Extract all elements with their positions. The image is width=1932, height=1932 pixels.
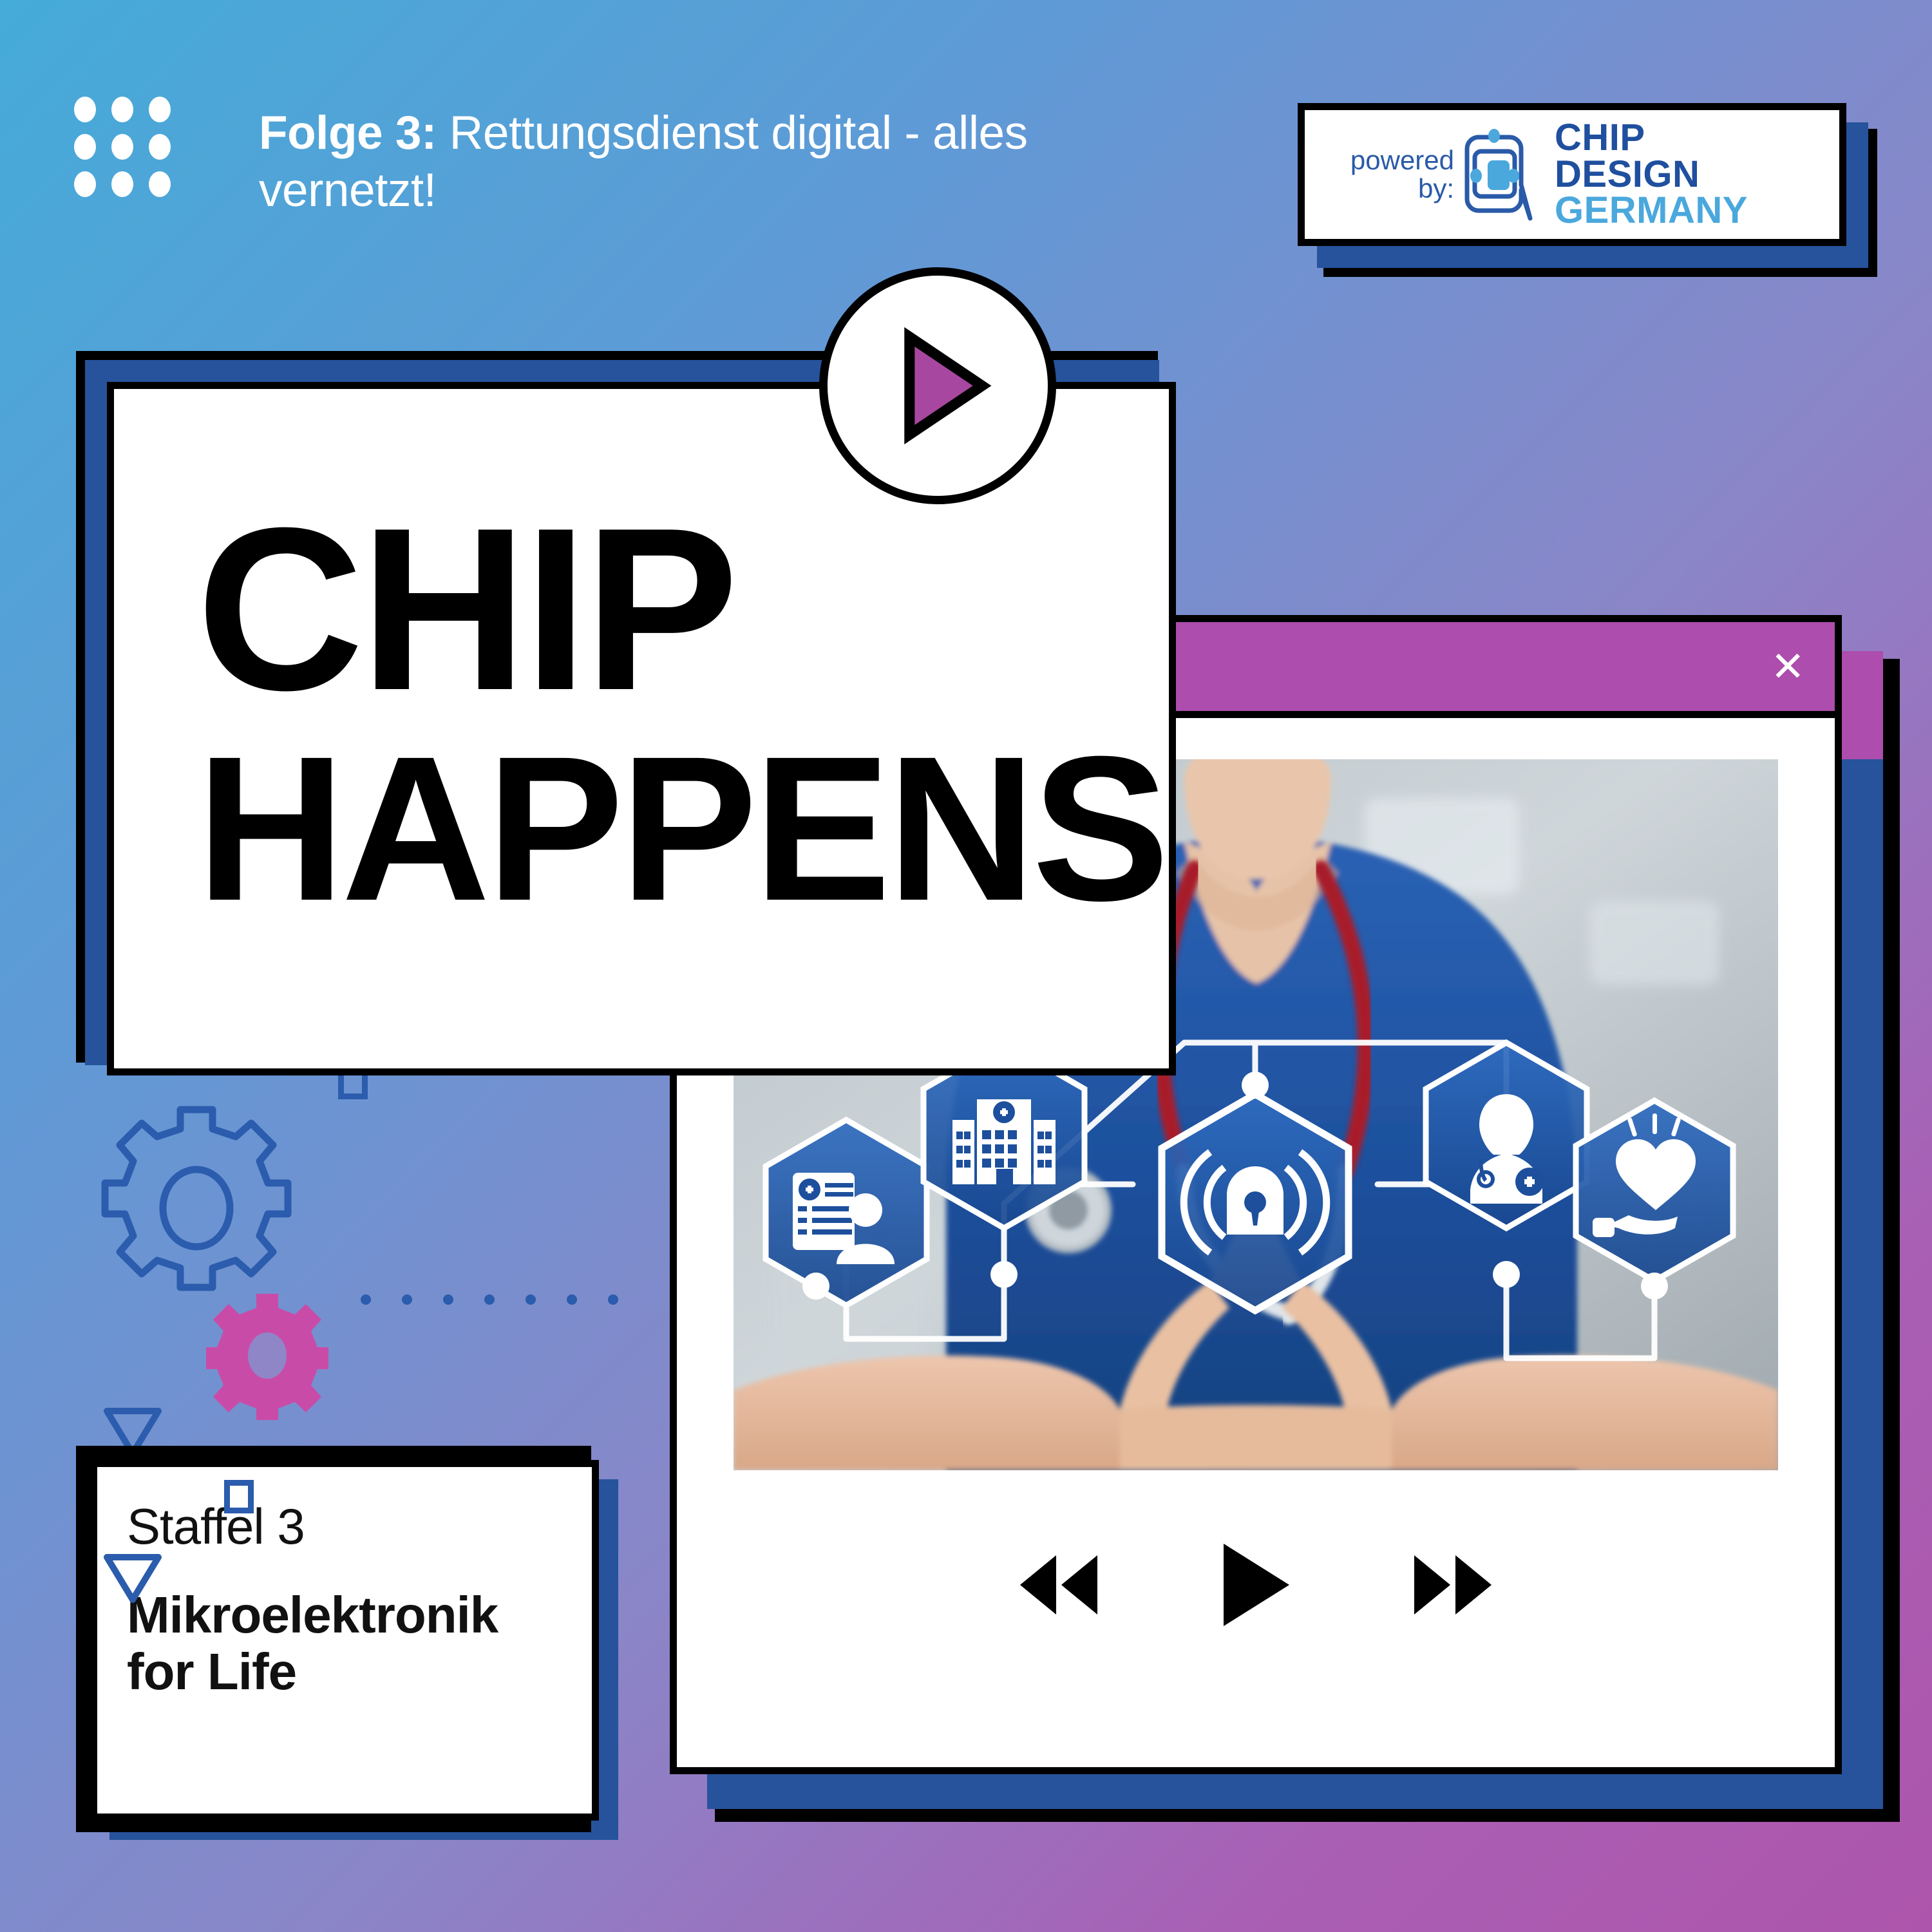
season-info-card: Staffel 3 Mikroelektronik for Life xyxy=(76,1446,643,1851)
play-triangle-icon xyxy=(864,312,1012,460)
divider-dot xyxy=(608,1294,618,1305)
grid-dot xyxy=(149,171,171,197)
episode-headline: Folge 3: Rettungsdienst digital - alles … xyxy=(259,104,1032,219)
brand-line-chip: CHIP xyxy=(1555,120,1748,156)
title-card-face: CHIP HAPPENS xyxy=(107,382,1176,1075)
show-title-card: CHIP HAPPENS xyxy=(76,351,1235,1075)
season-subtitle-line1: Mikroelektronik xyxy=(127,1587,562,1643)
powered-by-line1: powered xyxy=(1319,146,1454,175)
gear-icon-outline xyxy=(90,1104,303,1314)
podcast-cover: Folge 3: Rettungsdienst digital - alles … xyxy=(0,0,1932,1932)
divider-dot xyxy=(402,1294,412,1305)
fast-forward-button[interactable] xyxy=(1410,1551,1495,1618)
logo-card-face: powered by: CHIP DESIGN GERMANY xyxy=(1298,103,1846,246)
brand-line-germany: GERMANY xyxy=(1555,193,1748,229)
divider-dot xyxy=(567,1294,577,1305)
grid-dot xyxy=(149,134,171,160)
dot-grid-decoration xyxy=(74,97,186,209)
brand-wordmark: CHIP DESIGN GERMANY xyxy=(1555,120,1748,229)
play-badge-button[interactable] xyxy=(819,267,1056,504)
brand-line-design: DESIGN xyxy=(1555,156,1748,193)
title-line-2: HAPPENS xyxy=(196,735,1166,921)
dotted-divider-decoration xyxy=(361,1294,618,1305)
season-card-face: Staffel 3 Mikroelektronik for Life xyxy=(90,1460,599,1821)
page-title: CHIP HAPPENS xyxy=(196,505,1166,921)
gear-icon-filled xyxy=(206,1291,328,1423)
grid-dot xyxy=(111,97,133,122)
grid-dot xyxy=(111,134,133,160)
player-controls xyxy=(1016,1540,1495,1630)
divider-dot xyxy=(361,1294,371,1305)
season-subtitle: Mikroelektronik for Life xyxy=(127,1587,562,1700)
powered-by-logo-card: powered by: CHIP DESIGN GERMANY xyxy=(1298,103,1877,277)
chip-speech-bubble-mark-icon xyxy=(1459,123,1543,226)
title-line-1: CHIP xyxy=(196,505,1166,714)
powered-by-label: powered by: xyxy=(1319,146,1454,203)
divider-dot xyxy=(484,1294,495,1305)
episode-number: Folge 3: xyxy=(259,107,437,159)
square-outline-decoration xyxy=(224,1480,254,1513)
grid-dot xyxy=(74,134,96,160)
divider-dot xyxy=(443,1294,453,1305)
play-button[interactable] xyxy=(1217,1540,1294,1630)
grid-dot xyxy=(149,97,171,122)
triangle-down-icon xyxy=(103,1553,162,1607)
season-subtitle-line2: for Life xyxy=(127,1643,562,1700)
grid-dot xyxy=(74,97,96,122)
fast-forward-icon xyxy=(1410,1551,1495,1618)
grid-dot xyxy=(74,171,96,197)
powered-by-line2: by: xyxy=(1319,175,1454,203)
season-label: Staffel 3 xyxy=(127,1501,562,1553)
divider-dot xyxy=(526,1294,536,1305)
close-icon[interactable]: ✕ xyxy=(1770,646,1805,687)
grid-dot xyxy=(111,171,133,197)
play-icon xyxy=(1217,1540,1294,1630)
rewind-icon xyxy=(1016,1551,1101,1618)
rewind-button[interactable] xyxy=(1016,1551,1101,1618)
